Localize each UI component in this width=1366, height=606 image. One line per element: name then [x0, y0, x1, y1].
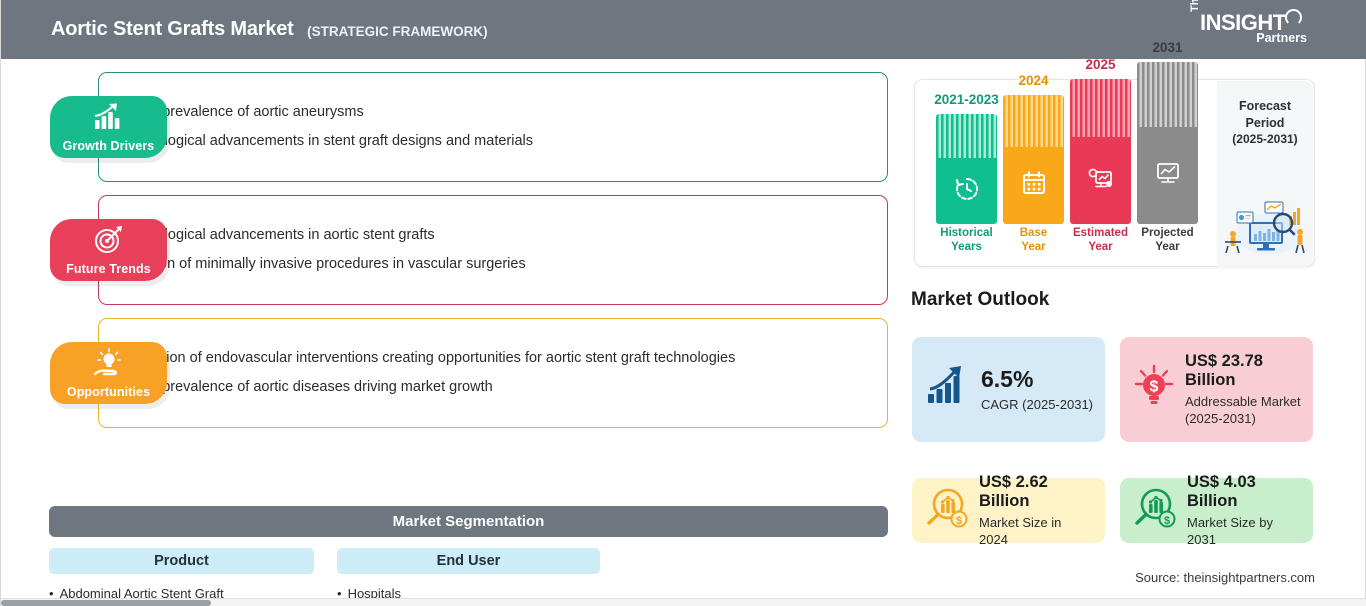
svg-text:$: $ — [1150, 379, 1159, 396]
svg-text:$: $ — [1164, 515, 1170, 527]
source-attribution: Source: theinsightpartners.com — [1135, 570, 1315, 585]
segmentation-pill-end-user[interactable]: End User — [337, 548, 600, 574]
scrollbar-thumb[interactable] — [1, 600, 211, 606]
badge-label: Growth Drivers — [63, 139, 155, 153]
svg-text:$: $ — [956, 515, 962, 527]
bullet-item: • Expansion of endovascular intervention… — [106, 350, 876, 367]
timeline-year-label: 2024 — [1018, 73, 1048, 88]
bar-stripes — [1137, 62, 1198, 127]
bar-stripes — [936, 114, 997, 158]
caption-line-1: Estimated — [1073, 227, 1128, 239]
forecast-period-text: Forecast Period (2025-2031) — [1217, 98, 1313, 148]
cagr-value: 6.5% — [981, 366, 1093, 394]
caption-line-2: Year — [1155, 241, 1179, 253]
timeline-bar-base: 2024 — [1003, 95, 1064, 224]
timeline-bar-estimated: 2025 — [1070, 79, 1131, 224]
bar-shape — [1137, 62, 1198, 224]
market-segmentation-title: Market Segmentation — [393, 513, 545, 530]
bullet-item: • Rising prevalence of aortic diseases d… — [106, 379, 876, 396]
infographic-page: Aortic Stent Grafts Market (STRATEGIC FR… — [0, 0, 1366, 606]
bar-solid — [1137, 127, 1198, 224]
caption-line-1: Projected — [1141, 227, 1193, 239]
bar-chart-growth-icon — [92, 102, 126, 137]
bullet-text: Rising prevalence of aortic diseases dri… — [118, 379, 493, 396]
magnifier-chart-dollar-icon: $ — [924, 485, 970, 536]
page-subtitle-text: (STRATEGIC FRAMEWORK) — [307, 24, 487, 39]
segmentation-column-title: End User — [437, 553, 501, 569]
analytics-dashboard-illustration — [1221, 194, 1309, 261]
market-size-2024-label: Market Size in 2024 — [979, 514, 1093, 548]
bar-shape — [936, 114, 997, 224]
bullet-item: • Adoption of minimally invasive procedu… — [106, 256, 876, 273]
bullet-item: • Technological advancements in aortic s… — [106, 227, 876, 244]
bullet-item: • Rising prevalence of aortic aneurysms — [106, 104, 876, 121]
market-size-2031-label: Market Size by 2031 — [1187, 514, 1301, 548]
cagr-card-text: 6.5% CAGR (2025-2031) — [981, 366, 1093, 413]
section-future-trends: • Technological advancements in aortic s… — [1, 195, 906, 305]
addressable-market-text: US$ 23.78 Billion Addressable Market (20… — [1185, 352, 1301, 428]
market-outlook-panel: 2021-2023 Historical — [906, 59, 1366, 606]
caption-line-1: Historical — [940, 227, 992, 239]
bar-shape — [1070, 79, 1131, 224]
market-size-2024-value: US$ 2.62 Billion — [979, 473, 1093, 513]
cagr-label: CAGR (2025-2031) — [981, 396, 1093, 413]
timeline-caption: Historical Years — [940, 227, 992, 254]
market-size-2031-text: US$ 4.03 Billion Market Size by 2031 — [1187, 473, 1301, 549]
bullet-text: Technological advancements in stent graf… — [118, 133, 533, 150]
calendar-icon — [1021, 170, 1047, 201]
logo-circle-icon — [1285, 9, 1302, 26]
bar-stripes — [1003, 95, 1064, 147]
logo-partners-text: Partners — [1256, 31, 1307, 45]
bar-shape — [1003, 95, 1064, 224]
caption-line-2: Year — [1088, 241, 1112, 253]
timeline-year-label: 2025 — [1085, 57, 1115, 72]
bullet-item: • Technological advancements in stent gr… — [106, 133, 876, 150]
cagr-card[interactable]: 6.5% CAGR (2025-2031) — [912, 337, 1105, 442]
horizontal-scrollbar[interactable] — [1, 598, 1366, 606]
lightbulb-dollar-icon: $ — [1132, 363, 1176, 416]
timeline-year-label: 2031 — [1152, 40, 1182, 55]
market-size-2031-value: US$ 4.03 Billion — [1187, 473, 1301, 513]
badge-label: Opportunities — [67, 385, 150, 399]
page-title-text: Aortic Stent Grafts Market — [51, 18, 294, 40]
section-opportunities: • Expansion of endovascular intervention… — [1, 318, 906, 428]
market-segmentation-header: Market Segmentation — [49, 506, 888, 537]
forecast-period-panel: Forecast Period (2025-2031) — [1217, 81, 1313, 267]
segmentation-pill-product[interactable]: Product — [49, 548, 314, 574]
clock-history-icon — [954, 176, 980, 207]
insight-partners-logo: The INSIGHT Partners — [1189, 9, 1309, 51]
section-growth-drivers: • Rising prevalence of aortic aneurysms … — [1, 72, 906, 182]
caption-line-2: Years — [951, 241, 982, 253]
badge-label: Future Trends — [66, 262, 151, 276]
growth-drivers-bullets: • Rising prevalence of aortic aneurysms … — [106, 72, 876, 182]
study-period-timeline-chart: 2021-2023 Historical — [914, 79, 1315, 267]
bullet-text: Expansion of endovascular interventions … — [118, 350, 735, 367]
lightbulb-hand-icon — [91, 348, 127, 385]
timeline-bar-projected: 2031 P — [1137, 62, 1198, 224]
bar-solid — [936, 158, 997, 224]
badge-future-trends[interactable]: Future Trends — [50, 219, 167, 281]
forecast-line-3: (2025-2031) — [1232, 132, 1297, 146]
bar-solid — [1003, 147, 1064, 224]
timeline-caption: Projected Year — [1141, 227, 1193, 254]
timeline-bar-historical: 2021-2023 Historical — [936, 114, 997, 224]
target-dart-icon — [93, 225, 125, 260]
forecast-line-2: Period — [1246, 116, 1285, 130]
timeline-year-label: 2021-2023 — [934, 92, 999, 107]
badge-growth-drivers[interactable]: Growth Drivers — [50, 96, 167, 158]
bullet-text: Adoption of minimally invasive procedure… — [118, 256, 526, 273]
magnifier-chart-dollar-icon: $ — [1132, 485, 1178, 536]
timeline-caption: Base Year — [1020, 227, 1048, 254]
segmentation-column-title: Product — [154, 553, 209, 569]
growth-bar-chart-icon — [924, 364, 972, 415]
market-size-2024-text: US$ 2.62 Billion Market Size in 2024 — [979, 473, 1093, 549]
bar-stripes — [1070, 79, 1131, 137]
presentation-chart-icon — [1154, 160, 1182, 191]
addressable-market-card[interactable]: $ US$ 23.78 Billion Addressable Market (… — [1120, 337, 1313, 442]
market-outlook-title: Market Outlook — [911, 289, 1049, 311]
strategic-framework-panel: • Rising prevalence of aortic aneurysms … — [1, 59, 906, 606]
forecast-gear-icon — [1087, 166, 1115, 195]
timeline-caption: Estimated Year — [1073, 227, 1128, 254]
caption-line-2: Year — [1021, 241, 1045, 253]
badge-opportunities[interactable]: Opportunities — [50, 342, 167, 404]
opportunities-bullets: • Expansion of endovascular intervention… — [106, 318, 876, 428]
market-size-2031-card[interactable]: $ US$ 4.03 Billion Market Size by 2031 — [1120, 478, 1313, 543]
forecast-line-1: Forecast — [1239, 99, 1291, 113]
addressable-market-value: US$ 23.78 Billion — [1185, 352, 1301, 392]
addressable-market-label: Addressable Market (2025-2031) — [1185, 393, 1301, 427]
future-trends-bullets: • Technological advancements in aortic s… — [106, 195, 876, 305]
page-title: Aortic Stent Grafts Market (STRATEGIC FR… — [1, 18, 488, 41]
caption-line-1: Base — [1020, 227, 1048, 239]
market-size-2024-card[interactable]: $ US$ 2.62 Billion Market Size in 2024 — [912, 478, 1105, 543]
bar-solid — [1070, 137, 1131, 224]
